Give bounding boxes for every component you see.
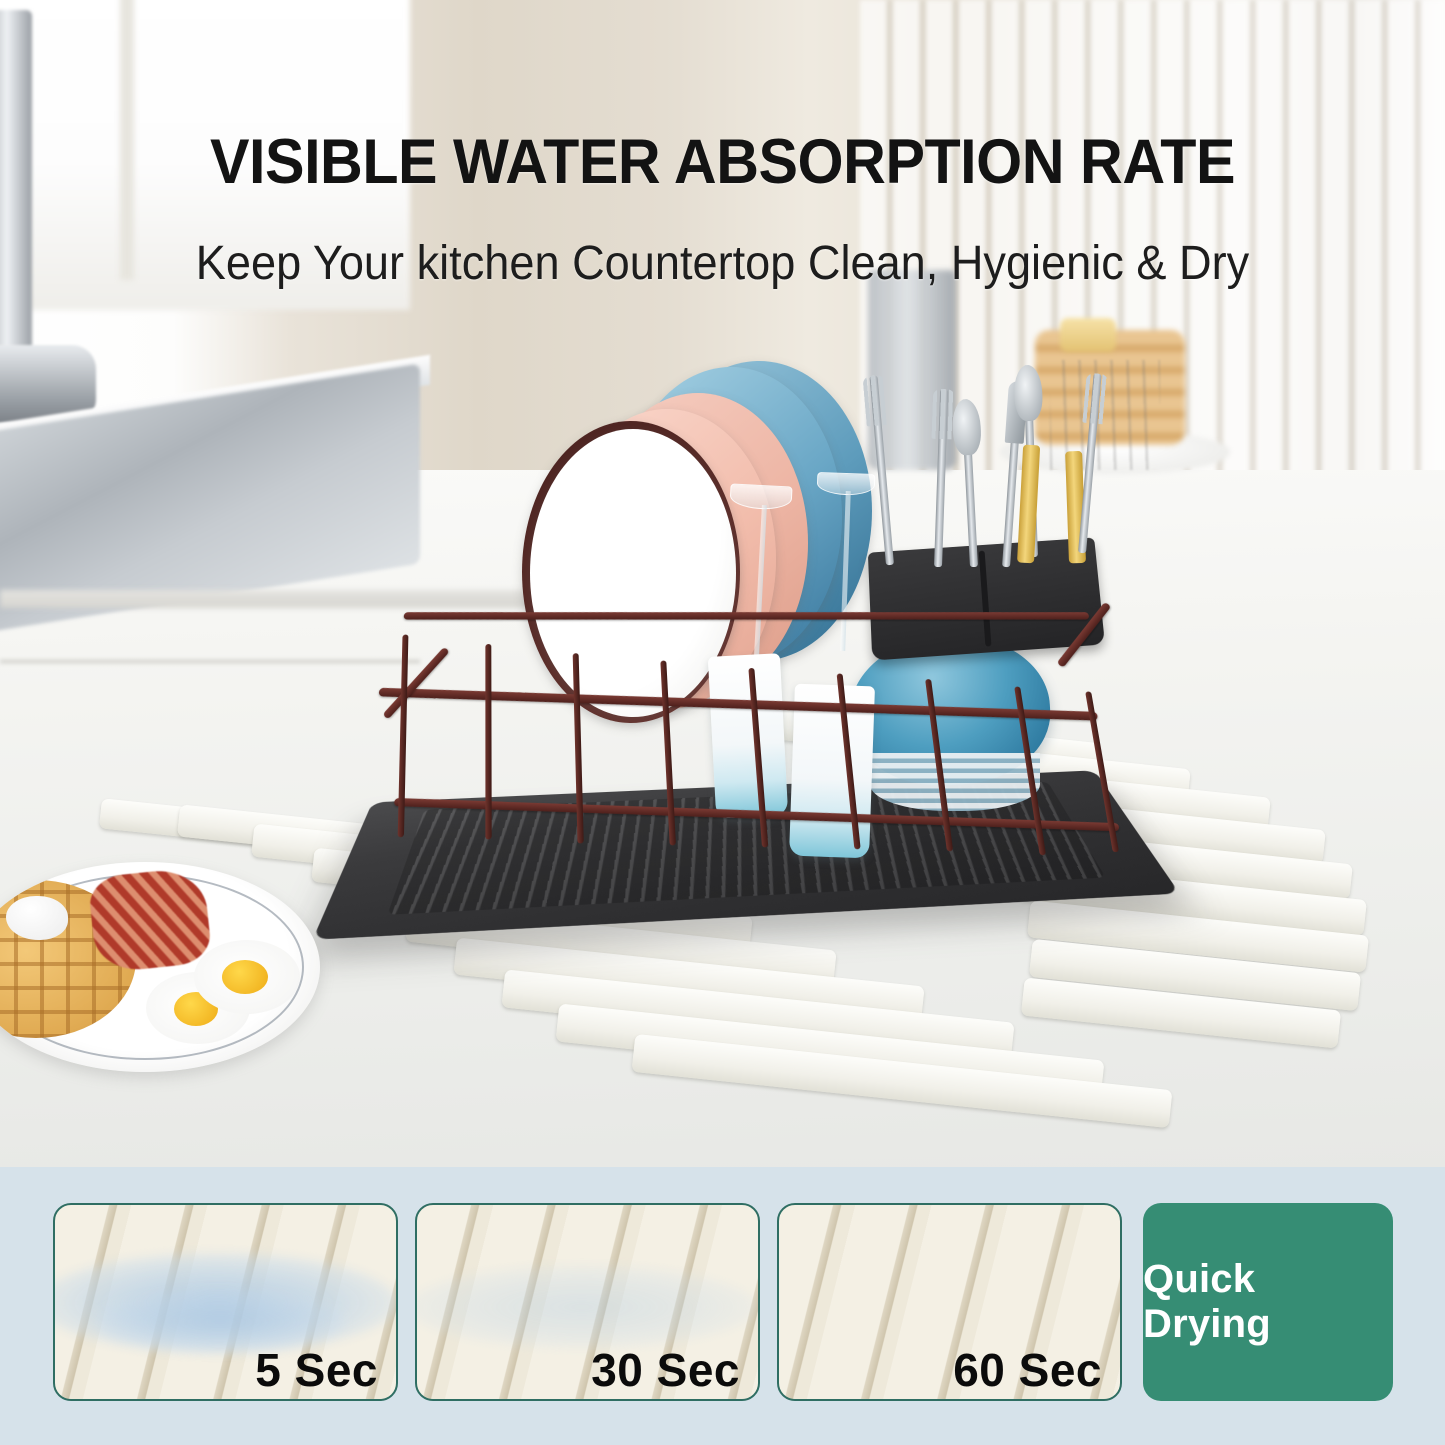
whipped-cream <box>6 896 68 940</box>
fork-2-icon <box>934 389 948 567</box>
basket-wire-3 <box>573 653 584 844</box>
basket-wire-1 <box>398 634 409 837</box>
absorption-card-5-sec-label: 5 Sec <box>255 1347 378 1393</box>
absorption-card-row: 5 Sec 30 Sec 60 Sec Quick Drying <box>53 1203 1393 1401</box>
water-blot-30-sec <box>415 1265 757 1349</box>
page-subtitle: Keep Your kitchen Countertop Clean, Hygi… <box>43 240 1401 288</box>
page-title: VISIBLE WATER ABSORPTION RATE <box>43 131 1401 194</box>
dish-drying-rack <box>330 355 1160 975</box>
absorption-card-quick-drying[interactable]: Quick Drying <box>1143 1203 1393 1401</box>
basket-top-rail-back <box>403 612 1089 619</box>
absorption-card-5-sec[interactable]: 5 Sec <box>53 1203 398 1401</box>
basket-wire-2 <box>485 644 491 840</box>
kitchen-scene: VISIBLE WATER ABSORPTION RATE Keep Your … <box>0 0 1445 1167</box>
absorption-card-quick-drying-label: Quick Drying <box>1143 1257 1393 1347</box>
absorption-card-60-sec-label: 60 Sec <box>953 1347 1102 1393</box>
basket-wire-4 <box>660 660 676 845</box>
basket-wire-5 <box>748 668 768 848</box>
egg-yolk-right <box>222 960 268 994</box>
wire-basket <box>372 538 1119 855</box>
basket-left-rail <box>382 647 449 720</box>
absorption-card-30-sec[interactable]: 30 Sec <box>415 1203 760 1401</box>
product-feature-image: VISIBLE WATER ABSORPTION RATE Keep Your … <box>0 0 1445 1445</box>
spoon-1-icon <box>961 399 978 567</box>
absorption-card-60-sec[interactable]: 60 Sec <box>777 1203 1122 1401</box>
butter-pat <box>1060 318 1116 352</box>
absorption-demo-band: 5 Sec 30 Sec 60 Sec Quick Drying <box>0 1167 1445 1445</box>
absorption-card-30-sec-label: 30 Sec <box>591 1347 740 1393</box>
